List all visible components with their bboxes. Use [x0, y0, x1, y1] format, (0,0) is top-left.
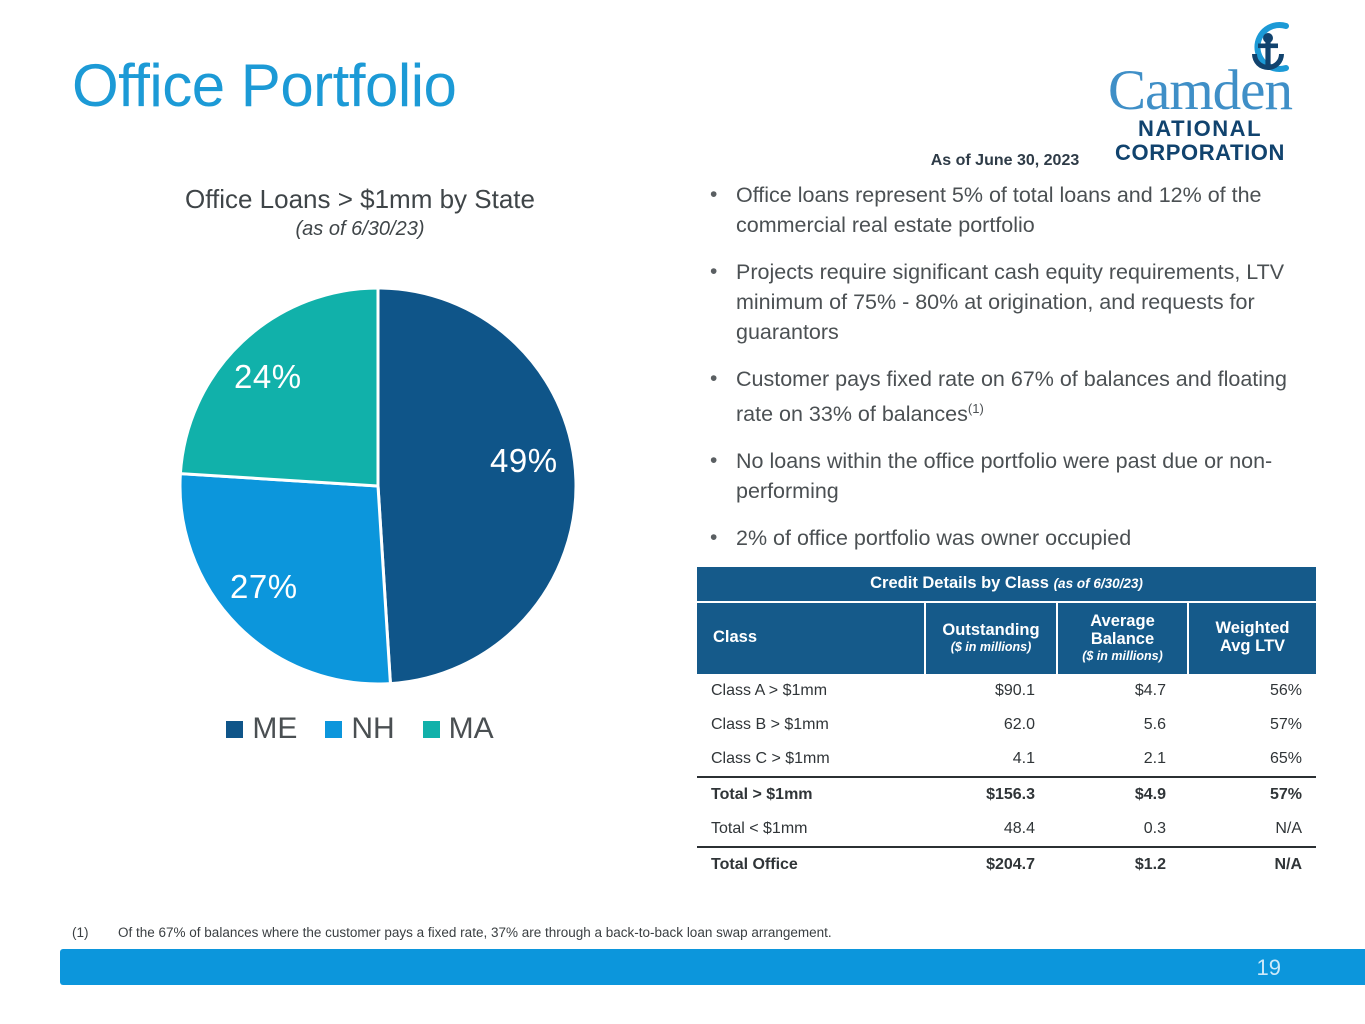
bullet-dot-icon: •: [700, 257, 736, 347]
cell-class: Total > $1mm: [697, 777, 925, 812]
table-row-total-office: Total Office $204.7 $1.2 N/A: [697, 847, 1316, 882]
table-row-total-over: Total > $1mm $156.3 $4.9 57%: [697, 777, 1316, 812]
column-header-class: Class: [697, 602, 925, 674]
bullet-text-with-footnote: Customer pays fixed rate on 67% of balan…: [736, 364, 1300, 429]
list-item: • Customer pays fixed rate on 67% of bal…: [700, 364, 1300, 429]
bullet-dot-icon: •: [700, 446, 736, 506]
bullet-dot-icon: •: [700, 523, 736, 553]
column-header-average-line2: Balance: [1091, 630, 1154, 648]
cell-outstanding: $90.1: [925, 674, 1057, 708]
legend-swatch-me: [226, 721, 243, 738]
cell-average-balance: $4.7: [1057, 674, 1188, 708]
table-title: Credit Details by Class: [870, 574, 1049, 592]
slide-canvas: Office Portfolio Camden NATIONAL CORPORA…: [0, 0, 1365, 1024]
column-header-ltv-line2: Avg LTV: [1220, 637, 1285, 655]
cell-class: Class B > $1mm: [697, 708, 925, 742]
column-header-outstanding: Outstanding ($ in millions): [925, 602, 1057, 674]
cell-class: Class A > $1mm: [697, 674, 925, 708]
table-title-row: Credit Details by Class (as of 6/30/23): [697, 567, 1316, 602]
footnote-marker: (1): [72, 925, 104, 940]
cell-outstanding: 4.1: [925, 742, 1057, 777]
pie-label-ma: 24%: [234, 358, 302, 396]
bullet-text: Customer pays fixed rate on 67% of balan…: [736, 367, 1287, 426]
pie-chart-svg: [178, 286, 578, 686]
legend-item-nh[interactable]: NH: [325, 714, 394, 744]
bullet-text: 2% of office portfolio was owner occupie…: [736, 523, 1300, 553]
page-number: 19: [1257, 955, 1281, 981]
chart-title: Office Loans > $1mm by State: [30, 184, 690, 215]
legend-swatch-nh: [325, 721, 342, 738]
cell-average-balance: 0.3: [1057, 812, 1188, 847]
cell-outstanding: 48.4: [925, 812, 1057, 847]
cell-average-balance: 5.6: [1057, 708, 1188, 742]
as-of-date: As of June 30, 2023: [700, 152, 1310, 170]
legend-label-nh: NH: [351, 714, 394, 744]
list-item: • No loans within the office portfolio w…: [700, 446, 1300, 506]
table-row-total-under: Total < $1mm 48.4 0.3 N/A: [697, 812, 1316, 847]
legend-item-ma[interactable]: MA: [423, 714, 494, 744]
cell-ltv: 56%: [1188, 674, 1316, 708]
table-title-cell: Credit Details by Class (as of 6/30/23): [697, 567, 1316, 602]
cell-outstanding: $204.7: [925, 847, 1057, 882]
column-header-average-unit: ($ in millions): [1068, 649, 1177, 663]
cell-outstanding: 62.0: [925, 708, 1057, 742]
cell-ltv: N/A: [1188, 847, 1316, 882]
pie-label-nh: 27%: [230, 568, 298, 606]
pie-slice-me: [378, 288, 576, 684]
cell-outstanding: $156.3: [925, 777, 1057, 812]
legend-label-ma: MA: [449, 714, 494, 744]
cell-ltv: N/A: [1188, 812, 1316, 847]
list-item: • Office loans represent 5% of total loa…: [700, 180, 1300, 240]
credit-details-table: Credit Details by Class (as of 6/30/23) …: [697, 567, 1316, 882]
column-header-outstanding-unit: ($ in millions): [936, 640, 1046, 654]
bullet-text: No loans within the office portfolio wer…: [736, 446, 1300, 506]
logo-brand-text: Camden: [1091, 62, 1309, 119]
cell-ltv: 57%: [1188, 777, 1316, 812]
chart-legend: ME NH MA: [30, 714, 690, 744]
bullet-dot-icon: •: [700, 180, 736, 240]
cell-average-balance: $1.2: [1057, 847, 1188, 882]
column-header-ltv-line1: Weighted: [1216, 619, 1290, 637]
cell-average-balance: $4.9: [1057, 777, 1188, 812]
column-header-weighted-avg-ltv: Weighted Avg LTV: [1188, 602, 1316, 674]
table-row: Class A > $1mm $90.1 $4.7 56%: [697, 674, 1316, 708]
cell-class: Total Office: [697, 847, 925, 882]
pie-chart: [178, 286, 578, 686]
cell-average-balance: 2.1: [1057, 742, 1188, 777]
pie-label-me: 49%: [490, 442, 558, 480]
bullet-text: Projects require significant cash equity…: [736, 257, 1300, 347]
chart-subtitle: (as of 6/30/23): [30, 218, 690, 241]
column-header-average-line1: Average: [1090, 612, 1155, 630]
legend-swatch-ma: [423, 721, 440, 738]
legend-label-me: ME: [252, 714, 297, 744]
logo-national-text: NATIONAL: [1091, 118, 1309, 140]
table-header-row: Class Outstanding ($ in millions) Averag…: [697, 602, 1316, 674]
company-logo: Camden NATIONAL CORPORATION: [1091, 18, 1309, 146]
cell-class: Total < $1mm: [697, 812, 925, 847]
legend-item-me[interactable]: ME: [226, 714, 297, 744]
list-item: • Projects require significant cash equi…: [700, 257, 1300, 347]
footnote-text: Of the 67% of balances where the custome…: [118, 925, 832, 940]
bullet-dot-icon: •: [700, 364, 736, 429]
cell-ltv: 57%: [1188, 708, 1316, 742]
footnote: (1) Of the 67% of balances where the cus…: [72, 925, 1072, 940]
column-header-outstanding-label: Outstanding: [942, 621, 1039, 639]
page-title: Office Portfolio: [72, 54, 456, 117]
table-row: Class B > $1mm 62.0 5.6 57%: [697, 708, 1316, 742]
footer-bar: [60, 949, 1365, 985]
bullet-text: Office loans represent 5% of total loans…: [736, 180, 1300, 240]
cell-class: Class C > $1mm: [697, 742, 925, 777]
footnote-superscript: (1): [968, 401, 984, 416]
column-header-average-balance: Average Balance ($ in millions): [1057, 602, 1188, 674]
table-row: Class C > $1mm 4.1 2.1 65%: [697, 742, 1316, 777]
bullet-list: • Office loans represent 5% of total loa…: [700, 180, 1300, 570]
list-item: • 2% of office portfolio was owner occup…: [700, 523, 1300, 553]
table-title-sub: (as of 6/30/23): [1054, 576, 1143, 591]
cell-ltv: 65%: [1188, 742, 1316, 777]
